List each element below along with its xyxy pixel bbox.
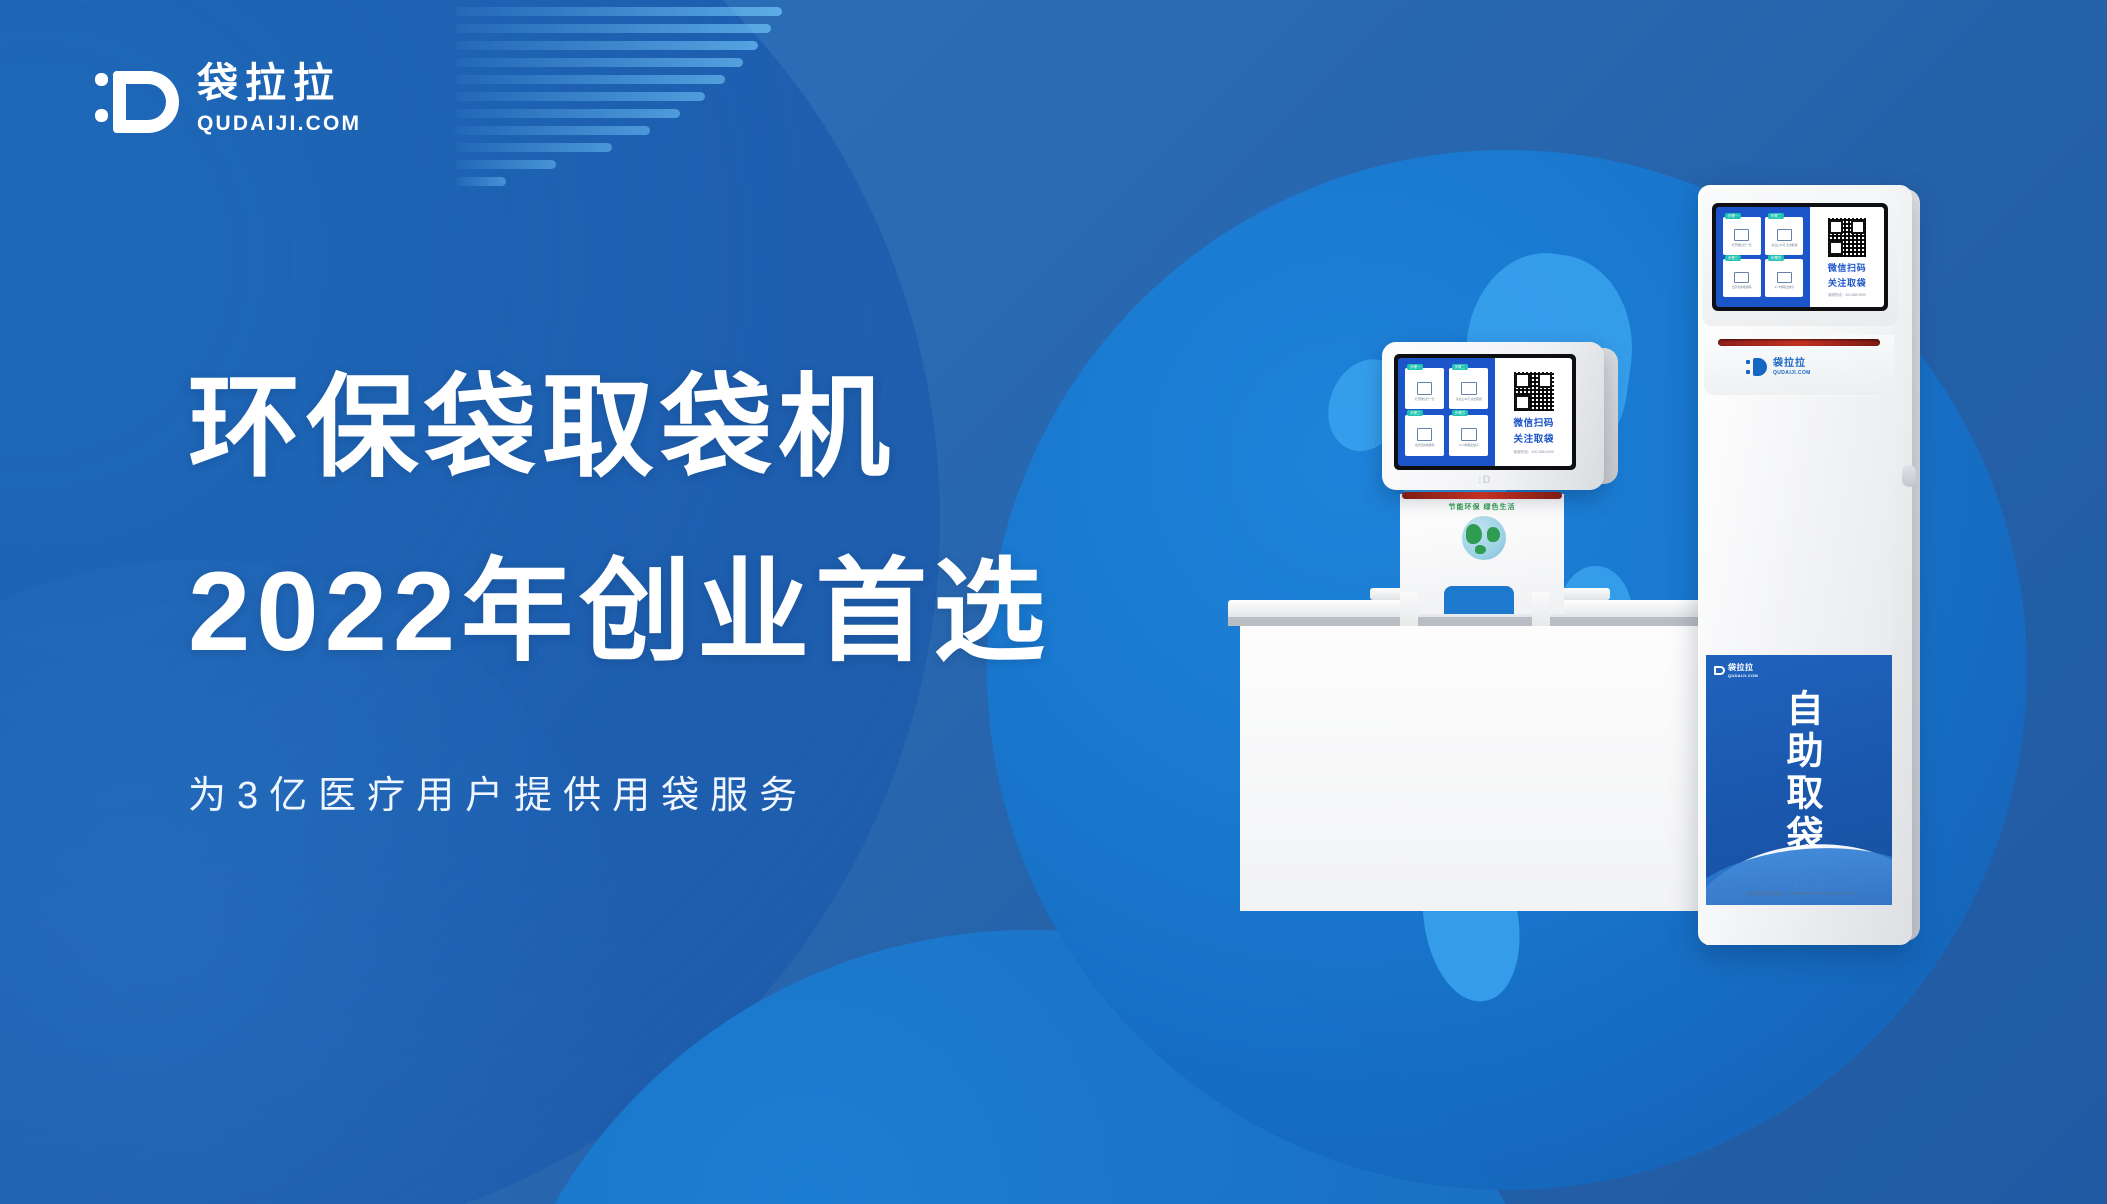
desktop-machine-leg-right [1532,592,1550,626]
step-tag-2: 步骤二 [1452,364,1468,370]
step-caption-3: 出示您的取袋码 [1730,286,1753,290]
cta-line-2: 关注取袋 [1514,434,1554,446]
screen-footer: 客服热线：400-888-9999 [1828,293,1866,297]
kiosk-dispense-slot [1718,339,1880,346]
bag-dispense-slot [1402,492,1562,499]
brand-name-cn: 袋拉拉 [197,63,361,104]
scan-frame-icon [1417,382,1432,395]
panel-brand-logo: 袋拉拉 QUDAIJI.COM [1714,662,1758,678]
kiosk-ui: 步骤一打开微信扫一扫步骤二关注公众号 点击取袋步骤三出示您的取袋码步骤四3～5秒… [1398,358,1572,466]
panel-brand-en: QUDAIJI.COM [1728,673,1758,678]
hero-banner: 袋拉拉 QUDAIJI.COM 环保袋取袋机 2022年创业首选 为3亿医疗用户… [0,0,2107,1204]
cta-line-1: 微信扫码 [1514,418,1554,430]
kiosk-branding-panel: 袋拉拉 QUDAIJI.COM 自助取袋机 全国服务热线电话：123 9666-… [1706,655,1892,905]
kiosk-mid-section [1706,397,1892,655]
step-caption-4: 3～5秒取出袋子 [1773,286,1796,290]
step-tag-1: 步骤一 [1725,213,1741,219]
step-tag-1: 步骤一 [1407,364,1423,370]
colon-d-logo-icon [1746,358,1768,376]
hero-copy: 环保袋取袋机 2022年创业首选 为3亿医疗用户提供用袋服务 [188,372,1051,819]
logo-mark-text: :D [1478,474,1492,486]
kiosk-base [1706,905,1892,945]
kiosk-qr-panel: 微信扫码 关注取袋 客服热线：400-888-9999 [1810,207,1884,307]
clock-icon [1777,272,1792,284]
follow-account-icon [1461,382,1476,395]
qr-code-icon [1417,428,1432,441]
bag-outlet-opening [1444,586,1514,614]
half-circle-stripes-decor [455,0,815,210]
wechat-qr-code-icon[interactable] [1826,216,1868,258]
step-tag-2: 步骤二 [1768,213,1784,219]
clock-icon [1461,428,1476,441]
step-card-4[interactable]: 步骤四3～5秒取出袋子 [1765,259,1803,297]
hero-subtitle: 为3亿医疗用户提供用袋服务 [188,764,1051,819]
kiosk-footer-text: 全国服务热线电话：123 9666-0099 QUDAIJI.COM [1716,891,1884,897]
step-caption-2: 关注公众号 点击取袋 [1454,398,1483,402]
headline-line-1: 环保袋取袋机 [188,372,1051,484]
qr-code-icon [1734,272,1749,284]
kiosk-side-button[interactable] [1902,465,1916,487]
step-card-3[interactable]: 步骤三出示您的取袋码 [1405,415,1444,456]
scan-frame-icon [1734,229,1749,241]
desktop-machine-leg-left [1400,592,1418,626]
qudaiji-colon-d-logo-icon [95,62,181,134]
desktop-machine-screen[interactable]: 步骤一打开微信扫一扫步骤二关注公众号 点击取袋步骤三出示您的取袋码步骤四3～5秒… [1394,354,1576,470]
desktop-machine-logo: :D [1478,474,1492,486]
step-card-1[interactable]: 步骤一打开微信扫一扫 [1723,217,1761,255]
plate-brand-cn: 袋拉拉 [1773,359,1811,369]
brand-logo[interactable]: 袋拉拉 QUDAIJI.COM [95,62,361,134]
step-tag-4: 步骤四 [1768,255,1784,261]
plate-brand-en: QUDAIJI.COM [1773,371,1811,376]
cta-line-1: 微信扫码 [1828,263,1866,274]
step-card-3[interactable]: 步骤三出示您的取袋码 [1723,259,1761,297]
step-card-2[interactable]: 步骤二关注公众号 点击取袋 [1765,217,1803,255]
step-card-1[interactable]: 步骤一打开微信扫一扫 [1405,368,1444,409]
floor-standing-bag-kiosk[interactable]: 步骤一打开微信扫一扫步骤二关注公众号 点击取袋步骤三出示您的取袋码步骤四3～5秒… [1690,185,1930,945]
step-caption-1: 打开微信扫一扫 [1413,398,1436,402]
eco-slogan: 节能环保 绿色生活 [1400,502,1564,512]
screen-footer: 客服热线：400-888-9999 [1514,450,1554,454]
step-card-4[interactable]: 步骤四3～5秒取出袋子 [1449,415,1488,456]
step-tag-3: 步骤三 [1407,410,1423,416]
kiosk-plate-brand-logo: 袋拉拉 QUDAIJI.COM [1746,358,1811,376]
kiosk-qr-panel: 微信扫码 关注取袋 客服热线：400-888-9999 [1495,358,1572,466]
step-card-2[interactable]: 步骤二关注公众号 点击取袋 [1449,368,1488,409]
kiosk-steps-panel: 步骤一打开微信扫一扫步骤二关注公众号 点击取袋步骤三出示您的取袋码步骤四3～5秒… [1398,358,1495,466]
desktop-bag-dispenser[interactable]: 节能环保 绿色生活 步骤一打开微信扫一扫步骤二关注公众号 点击取袋步骤三出示您的… [1382,342,1632,622]
brand-domain: QUDAIJI.COM [197,113,361,134]
step-tag-4: 步骤四 [1452,410,1468,416]
headline-line-2: 2022年创业首选 [188,556,1051,668]
step-caption-2: 关注公众号 点击取袋 [1770,244,1799,248]
step-caption-4: 3～5秒取出袋子 [1457,444,1480,448]
kiosk-ui: 步骤一打开微信扫一扫步骤二关注公众号 点击取袋步骤三出示您的取袋码步骤四3～5秒… [1716,207,1884,307]
wechat-qr-code-icon[interactable] [1512,370,1556,414]
follow-account-icon [1777,229,1792,241]
cta-line-2: 关注取袋 [1828,278,1866,289]
kiosk-steps-panel: 步骤一打开微信扫一扫步骤二关注公众号 点击取袋步骤三出示您的取袋码步骤四3～5秒… [1716,207,1810,307]
kiosk-screen[interactable]: 步骤一打开微信扫一扫步骤二关注公众号 点击取袋步骤三出示您的取袋码步骤四3～5秒… [1712,203,1888,311]
panel-brand-cn: 袋拉拉 [1728,662,1758,673]
step-caption-1: 打开微信扫一扫 [1730,244,1753,248]
step-caption-3: 出示您的取袋码 [1413,444,1436,448]
step-tag-3: 步骤三 [1725,255,1741,261]
green-earth-icon [1462,516,1506,560]
